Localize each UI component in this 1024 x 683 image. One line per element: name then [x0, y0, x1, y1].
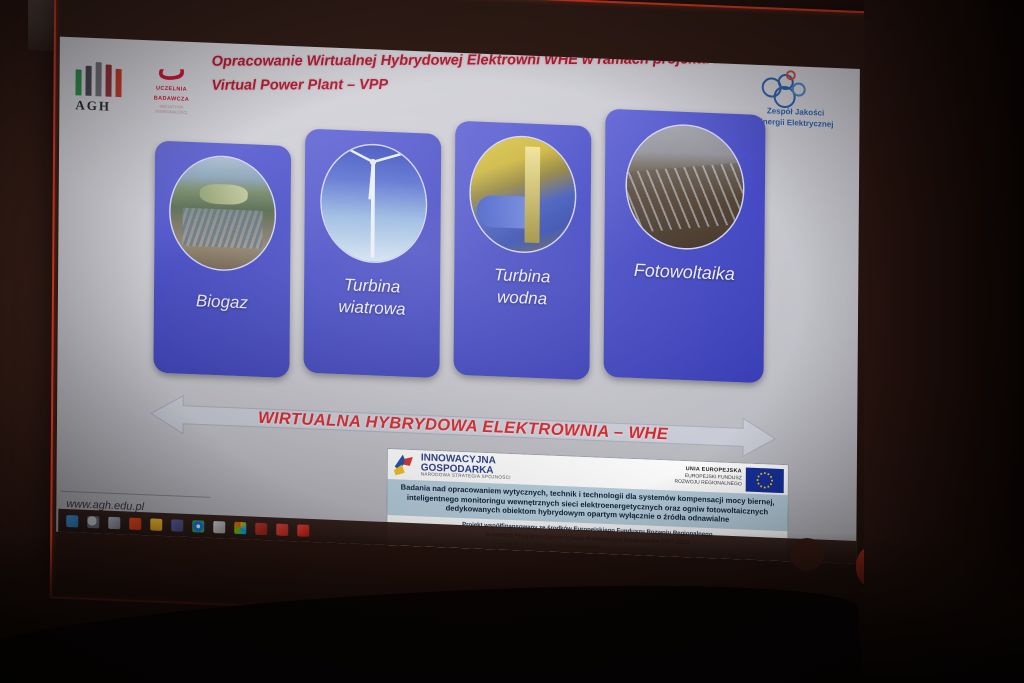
biogas-plant-thumbnail — [170, 155, 275, 271]
uczelnia-mark-icon: ٮ — [144, 56, 200, 84]
wind-photo — [321, 143, 426, 263]
panel-turbina-wodna[interactable]: Turbina wodna — [453, 121, 591, 381]
store-icon[interactable] — [213, 521, 225, 533]
agh-wordmark: AGH — [75, 97, 133, 115]
panel-biogaz-label: Biogaz — [154, 289, 290, 316]
start-icon[interactable] — [66, 515, 78, 527]
ig-sub: NARODOWA STRATEGIA SPÓJNOŚCI — [421, 471, 511, 480]
agh-bar — [105, 64, 111, 96]
eu-text-block: UNIA EUROPEJSKA EUROPEJSKI FUNDUSZ ROZWO… — [674, 466, 741, 488]
search-icon[interactable] — [87, 516, 99, 528]
eu-line3: ROZWOJU REGIONALNEGO — [674, 479, 741, 488]
panel-fotowoltaika-label: Fotowoltaika — [604, 259, 764, 286]
url-divider — [60, 491, 210, 498]
task-view-icon[interactable] — [108, 517, 120, 529]
panel-biogaz[interactable]: Biogaz — [153, 141, 291, 379]
agh-bar — [75, 69, 81, 95]
edge-icon[interactable] — [129, 518, 141, 530]
wind-turbine-thumbnail — [321, 143, 426, 263]
solar-photo — [626, 124, 743, 251]
agh-bar — [115, 69, 121, 97]
hydro-turbine-thumbnail — [470, 135, 575, 253]
agh-logo: AGH — [75, 59, 133, 117]
panel-wodna-label2: wodna — [454, 285, 590, 312]
panel-fotowoltaika[interactable]: Fotowoltaika — [604, 109, 766, 383]
wind-turbine-icon — [321, 143, 426, 262]
room-photo: AGH ٮ UCZELNIA BADAWCZA INICJATYWA DOSKO… — [0, 0, 1024, 683]
source-panels: Biogaz — [153, 89, 775, 414]
biogas-photo — [170, 155, 275, 271]
agh-bar — [85, 66, 91, 96]
innowacyjna-gospodarka-icon — [393, 452, 417, 477]
solar-panels-thumbnail — [626, 124, 743, 251]
circles-icon — [744, 70, 848, 108]
agh-bar — [95, 62, 101, 96]
panel-turbina-wiatrowa[interactable]: Turbina wiatrowa — [303, 129, 441, 379]
slide-title-line2: Virtual Power Plant – VPP — [211, 74, 771, 96]
panel-wiatrowa-label1: Turbina — [304, 273, 440, 300]
powerpoint-slide: AGH ٮ UCZELNIA BADAWCZA INICJATYWA DOSKO… — [56, 37, 860, 564]
panel-wodna-label1: Turbina — [454, 263, 590, 290]
chrome-icon[interactable] — [192, 520, 204, 532]
teams-icon[interactable] — [171, 519, 183, 531]
agh-bars-icon — [75, 59, 127, 97]
eu-flag-icon — [746, 468, 784, 494]
hydro-photo — [470, 135, 575, 253]
panel-wiatrowa-label2: wiatrowa — [304, 295, 440, 322]
file-explorer-icon[interactable] — [150, 518, 162, 530]
